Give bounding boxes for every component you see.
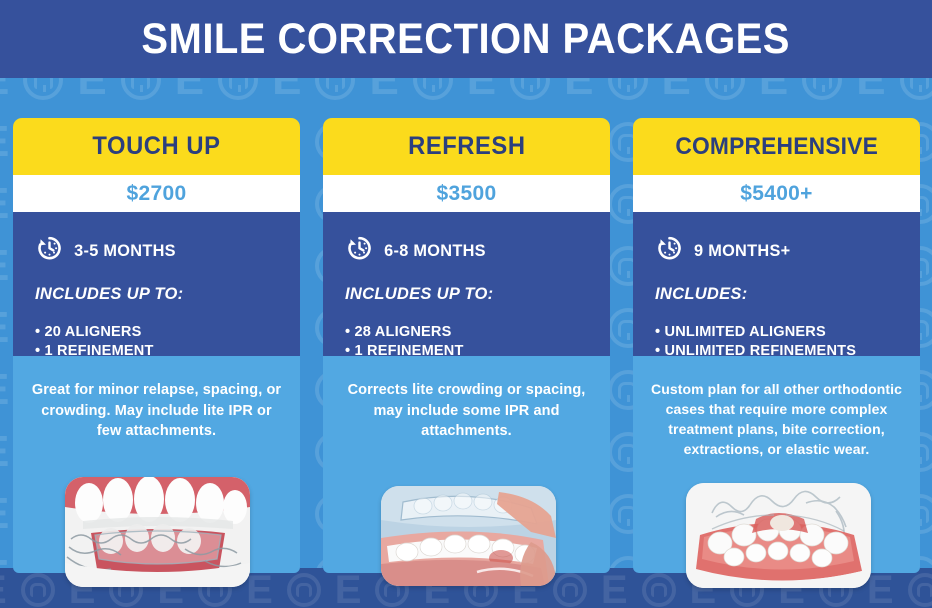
package-card-touch-up[interactable]: TOUCH UP $2700 (13, 118, 300, 573)
package-body: 9 MONTHS+ INCLUDES: • UNLIMITED ALIGNERS… (633, 212, 920, 356)
package-header: COMPREHENSIVE (633, 118, 920, 175)
includes-label: INCLUDES UP TO: (345, 285, 610, 304)
package-name: TOUCH UP (92, 132, 220, 161)
package-description: Corrects lite crowding or spacing, may i… (339, 380, 594, 442)
package-header: TOUCH UP (13, 118, 300, 175)
duration-text: 9 MONTHS+ (694, 241, 790, 261)
package-body: 6-8 MONTHS INCLUDES UP TO: • 28 ALIGNERS… (323, 212, 610, 356)
page-title: SMILE CORRECTION PACKAGES (142, 15, 791, 64)
includes-label: INCLUDES UP TO: (35, 285, 300, 304)
package-description: Great for minor relapse, spacing, or cro… (29, 380, 284, 442)
clock-history-icon (345, 234, 373, 267)
package-card-refresh[interactable]: REFRESH $3500 6 (323, 118, 610, 573)
duration-row: 3-5 MONTHS (35, 234, 300, 267)
header-bar: SMILE CORRECTION PACKAGES (0, 0, 932, 78)
package-description: Custom plan for all other orthodontic ca… (649, 380, 904, 460)
package-price-band: $2700 (13, 175, 300, 212)
duration-row: 6-8 MONTHS (345, 234, 610, 267)
package-header: REFRESH (323, 118, 610, 175)
feature-item: • UNLIMITED ALIGNERS (655, 322, 912, 341)
clock-history-icon (655, 234, 683, 267)
package-photo-comprehensive (686, 483, 871, 588)
package-name: COMPREHENSIVE (675, 133, 878, 161)
clock-history-icon (35, 234, 63, 267)
duration-text: 3-5 MONTHS (74, 241, 176, 261)
package-price: $3500 (437, 182, 497, 206)
feature-list: • UNLIMITED ALIGNERS • UNLIMITED REFINEM… (655, 322, 920, 360)
package-body: 3-5 MONTHS INCLUDES UP TO: • 20 ALIGNERS… (13, 212, 300, 356)
feature-list: • 28 ALIGNERS • 1 REFINEMENT (345, 322, 610, 360)
package-price-band: $5400+ (633, 175, 920, 212)
package-price: $2700 (127, 182, 187, 206)
package-price-band: $3500 (323, 175, 610, 212)
package-photo-touch-up (65, 477, 250, 587)
package-photo-refresh (381, 486, 556, 586)
duration-text: 6-8 MONTHS (384, 241, 486, 261)
package-price: $5400+ (740, 182, 812, 206)
packages-container: TOUCH UP $2700 (0, 0, 932, 608)
duration-row: 9 MONTHS+ (655, 234, 920, 267)
package-name: REFRESH (408, 132, 525, 161)
feature-item: • 20 ALIGNERS (35, 322, 292, 341)
feature-list: • 20 ALIGNERS • 1 REFINEMENT (35, 322, 300, 360)
package-card-comprehensive[interactable]: COMPREHENSIVE $5400+ (633, 118, 920, 573)
includes-label: INCLUDES: (655, 285, 920, 304)
feature-item: • 28 ALIGNERS (345, 322, 602, 341)
